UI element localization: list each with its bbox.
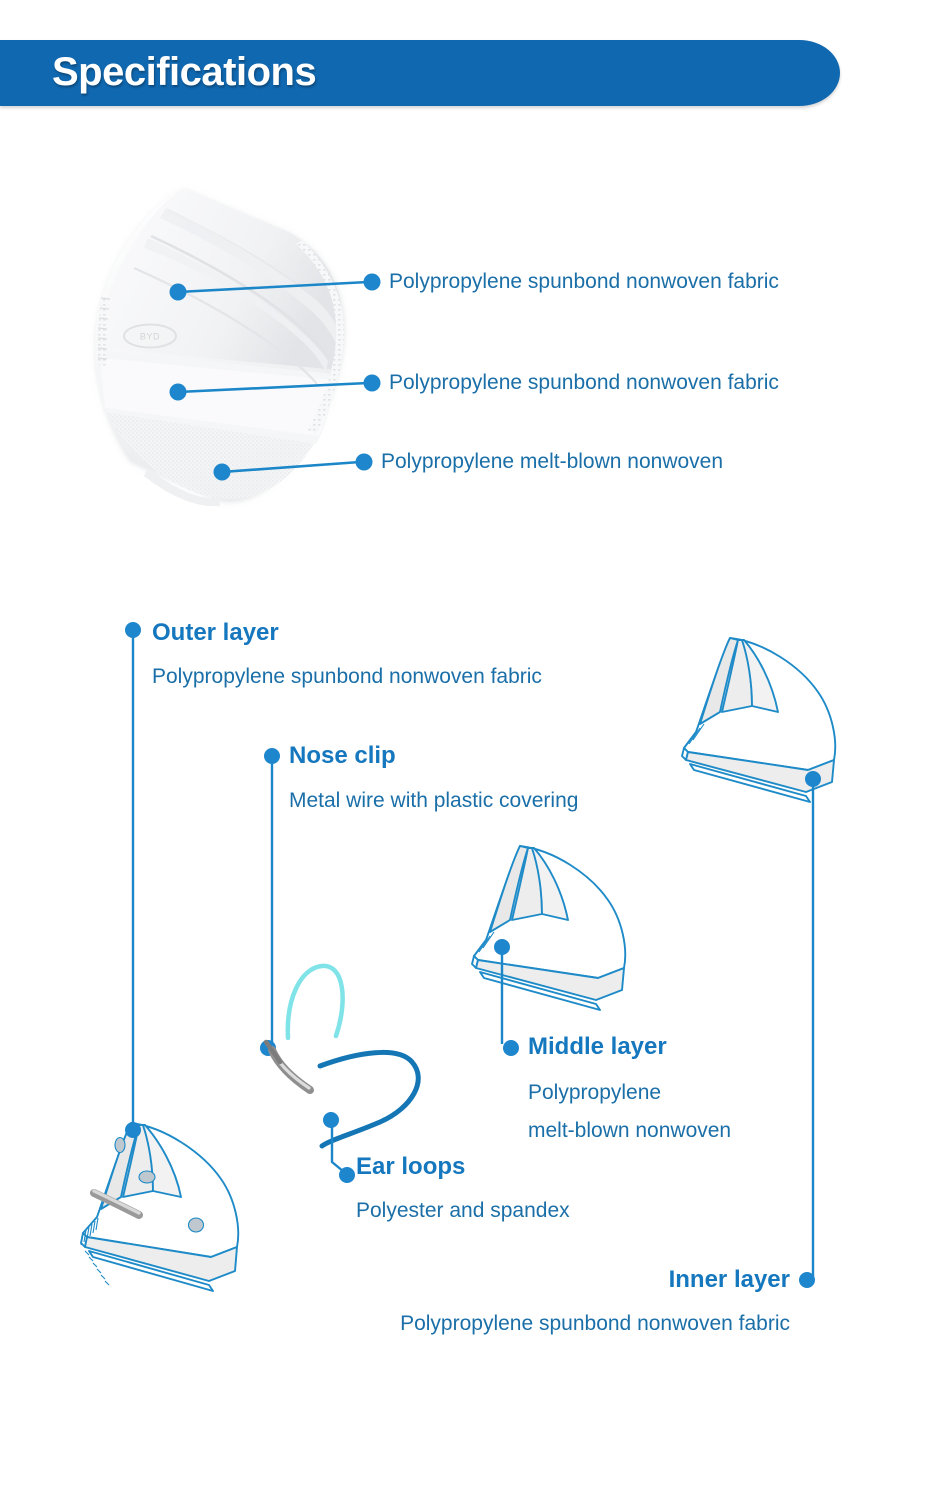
inner-layer-connector xyxy=(799,771,821,1288)
outer-layer-dot xyxy=(125,622,141,638)
inner-layer-anchor-dot xyxy=(799,1272,815,1288)
ear-loops-drawing xyxy=(288,966,418,1146)
ear-loops-anchor-dot xyxy=(339,1167,355,1183)
photo-callout-label-1: Polypropylene spunbond nonwoven fabric xyxy=(389,270,779,294)
nose-clip-anchor-dot xyxy=(260,1040,276,1056)
outer-layer-connector xyxy=(125,622,141,1138)
specifications-page: Specifications xyxy=(0,0,940,1500)
photo-callout-label-3: Polypropylene melt-blown nonwoven xyxy=(381,450,723,474)
inner-layer-title: Inner layer xyxy=(440,1266,790,1294)
middle-layer-anchor-dot xyxy=(503,1040,519,1056)
ear-loops-connector xyxy=(323,1112,355,1183)
nose-clip-connector xyxy=(260,748,280,1056)
nose-clip-dot xyxy=(264,748,280,764)
ear-loops-title: Ear loops xyxy=(356,1153,465,1181)
outer-layer-title: Outer layer xyxy=(152,619,279,647)
svg-text:BYD: BYD xyxy=(140,332,160,342)
mask-photo: BYD xyxy=(88,168,388,513)
brand-logo: BYD xyxy=(124,325,176,348)
middle-layer-illustration xyxy=(450,828,650,1028)
middle-layer-title: Middle layer xyxy=(528,1033,667,1061)
outer-layer-desc-1: Polypropylene spunbond nonwoven fabric xyxy=(152,658,542,696)
nose-clip-desc-1: Metal wire with plastic covering xyxy=(289,782,578,820)
nose-clip-title: Nose clip xyxy=(289,742,396,770)
outer-layer-illustration xyxy=(55,1105,270,1310)
page-title: Specifications xyxy=(52,50,316,95)
nose-clip-drawing xyxy=(266,1042,310,1090)
inner-layer-illustration xyxy=(660,620,860,820)
middle-layer-desc-2: melt-blown nonwoven xyxy=(528,1112,731,1150)
photo-callout-label-2: Polypropylene spunbond nonwoven fabric xyxy=(389,371,779,395)
inner-layer-desc-1: Polypropylene spunbond nonwoven fabric xyxy=(320,1305,790,1343)
middle-layer-desc-1: Polypropylene xyxy=(528,1074,661,1112)
ear-loops-dot xyxy=(323,1112,339,1128)
ear-loops-desc-1: Polyester and spandex xyxy=(356,1192,570,1230)
